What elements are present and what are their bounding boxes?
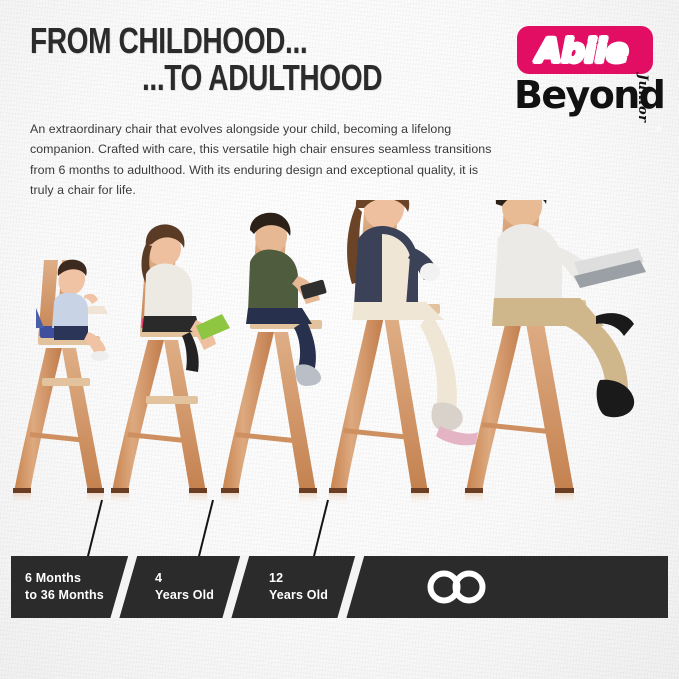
chair-5-group <box>465 200 646 506</box>
segment-label-line-1: 4 <box>155 570 255 587</box>
age-timeline-bar: 6 Months to 36 Months 4 Years Old 12 Yea… <box>11 556 668 618</box>
segment-label-line-1: 6 Months <box>25 570 125 587</box>
segment-label-line-2: Years Old <box>269 587 369 604</box>
chair-2-group <box>111 224 230 506</box>
product-lineup-stage <box>0 200 679 530</box>
registered-trademark-icon: ® <box>656 125 662 134</box>
timeline-segment-4-years[interactable]: 4 Years Old <box>155 556 255 618</box>
segment-label-line-2: to 36 Months <box>25 587 125 604</box>
headline-line-2: ...TO ADULTHOOD <box>142 61 406 94</box>
chair-3-group <box>221 213 327 506</box>
poster-canvas: FROM CHILDHOOD... ...TO ADULTHOOD An ext… <box>0 0 679 679</box>
logo-brand-text: Abiie <box>514 26 650 74</box>
marketing-description: An extraordinary chair that evolves alon… <box>30 119 492 199</box>
chair-1-group <box>13 260 109 506</box>
figure-man <box>492 200 646 417</box>
chairs-and-people-illustration <box>0 200 679 530</box>
headline-line-1: FROM CHILDHOOD... <box>30 24 381 57</box>
infinity-icon <box>424 567 490 607</box>
chair-4-group <box>329 200 478 506</box>
brand-logo: Abiie ® Beyond Junior <box>514 26 666 138</box>
segment-label-line-1: 12 <box>269 570 369 587</box>
page-title: FROM CHILDHOOD... ...TO ADULTHOOD <box>30 24 480 94</box>
logo-product-qualifier: Junior <box>635 74 650 123</box>
timeline-segment-12-years[interactable]: 12 Years Old <box>269 556 369 618</box>
timeline-segment-6-36-months[interactable]: 6 Months to 36 Months <box>25 556 125 618</box>
segment-label-line-2: Years Old <box>155 587 255 604</box>
